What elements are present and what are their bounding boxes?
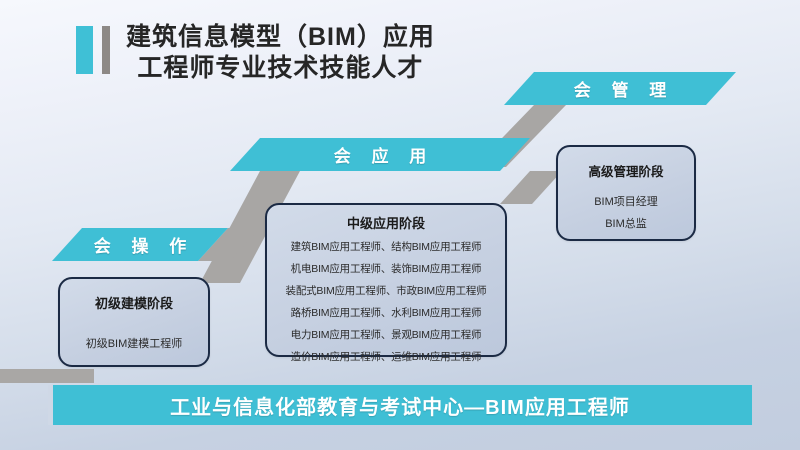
step-ribbon-2[interactable]: 会 应 用 — [230, 138, 530, 171]
page-title: 建筑信息模型（BIM）应用 工程师专业技术技能人才 — [76, 22, 435, 84]
title-line-1: 建筑信息模型（BIM）应用 — [126, 22, 435, 53]
stage-card-intermediate-line-6: 造价BIM应用工程师、运维BIM应用工程师 — [267, 349, 505, 364]
title-text-block: 建筑信息模型（BIM）应用 工程师专业技术技能人才 — [126, 22, 435, 84]
step-riser-2-side — [500, 171, 562, 204]
stage-card-advanced[interactable]: 高级管理阶段 BIM项目经理 BIM总监 — [556, 145, 696, 241]
bottom-banner-label: 工业与信息化部教育与考试中心—BIM应用工程师 — [170, 391, 630, 420]
stage-card-beginner-line-1: 初级BIM建模工程师 — [60, 335, 208, 351]
stage-card-advanced-line-1: BIM项目经理 — [558, 193, 694, 209]
stage-card-intermediate-line-4: 路桥BIM应用工程师、水利BIM应用工程师 — [267, 305, 505, 320]
step-ribbon-3-label: 会 管 理 — [566, 76, 674, 101]
accent-bar-teal-icon — [76, 26, 93, 74]
stage-card-beginner-title: 初级建模阶段 — [60, 293, 208, 312]
step-ribbon-1[interactable]: 会 操 作 — [52, 228, 228, 261]
title-accent-bars — [76, 26, 110, 74]
step-ribbon-1-label: 会 操 作 — [86, 232, 194, 257]
bottom-banner-left-edge — [48, 385, 53, 425]
stage-card-advanced-line-2: BIM总监 — [558, 215, 694, 231]
title-line-2: 工程师专业技术技能人才 — [126, 53, 435, 84]
stage-card-beginner[interactable]: 初级建模阶段 初级BIM建模工程师 — [58, 277, 210, 367]
floor-block-left — [0, 369, 94, 383]
stage-card-intermediate-title: 中级应用阶段 — [267, 213, 505, 232]
step-ribbon-3[interactable]: 会 管 理 — [504, 72, 736, 105]
stage-card-intermediate-line-2: 机电BIM应用工程师、装饰BIM应用工程师 — [267, 261, 505, 276]
slide-canvas: 建筑信息模型（BIM）应用 工程师专业技术技能人才 会 操 作 会 应 用 会 … — [0, 0, 800, 450]
bottom-banner: 工业与信息化部教育与考试中心—BIM应用工程师 — [48, 385, 752, 425]
stage-card-advanced-title: 高级管理阶段 — [558, 161, 694, 180]
step-ribbon-2-label: 会 应 用 — [326, 142, 434, 167]
stage-card-intermediate-line-3: 装配式BIM应用工程师、市政BIM应用工程师 — [267, 283, 505, 298]
stage-card-intermediate[interactable]: 中级应用阶段 建筑BIM应用工程师、结构BIM应用工程师 机电BIM应用工程师、… — [265, 203, 507, 357]
accent-bar-gray-icon — [102, 26, 110, 74]
stage-card-intermediate-line-1: 建筑BIM应用工程师、结构BIM应用工程师 — [267, 239, 505, 254]
stage-card-intermediate-line-5: 电力BIM应用工程师、景观BIM应用工程师 — [267, 327, 505, 342]
